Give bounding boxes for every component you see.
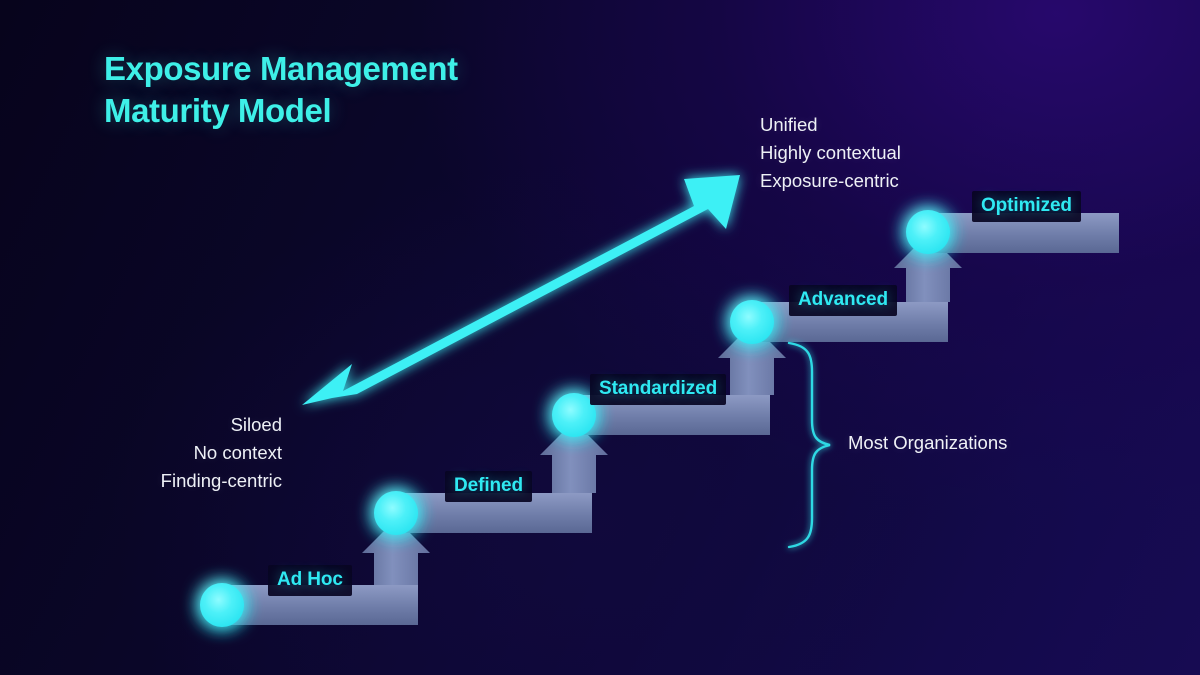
most-organizations-label: Most Organizations [848,432,1007,454]
stage-node-optimized[interactable] [906,210,950,254]
stage-label-standardized: Standardized [590,374,726,405]
stage-label-optimized: Optimized [972,191,1081,222]
most-organizations-brace-icon [789,343,830,547]
maturity-double-arrow-icon [302,175,740,405]
stage-label-ad-hoc: Ad Hoc [268,565,352,596]
stage-node-ad-hoc[interactable] [200,583,244,627]
stage-label-defined: Defined [445,471,532,502]
stage-node-defined[interactable] [374,491,418,535]
maturity-low-description: Siloed No context Finding-centric [161,411,282,495]
slide-canvas: Exposure Management Maturity Model Unifi… [0,0,1200,675]
page-title: Exposure Management Maturity Model [104,48,458,132]
stage-node-advanced[interactable] [730,300,774,344]
stage-label-advanced: Advanced [789,285,897,316]
maturity-high-description: Unified Highly contextual Exposure-centr… [760,111,901,195]
